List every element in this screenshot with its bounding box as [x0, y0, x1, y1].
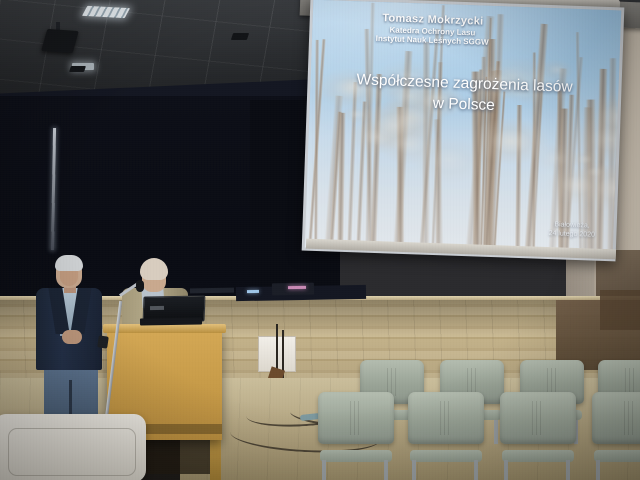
mixer-led-indicator	[247, 290, 259, 293]
presenter-left-hands	[62, 330, 82, 344]
tree-trunk	[336, 112, 345, 248]
audience-chair	[408, 392, 484, 480]
chair-backrest	[318, 392, 394, 444]
chair-seat	[410, 450, 482, 462]
chair-seat	[502, 450, 574, 462]
tree-trunk	[314, 40, 320, 248]
dark-wood-panel	[600, 290, 640, 330]
foreground-chair-inner-edge	[8, 428, 136, 476]
lectern-top-surface	[103, 324, 226, 333]
chair-seat	[320, 450, 392, 462]
equipment-shelf	[190, 288, 234, 294]
chair-leg	[412, 460, 416, 480]
ceiling-projector-icon	[41, 29, 79, 53]
chair-backrest	[408, 392, 484, 444]
chair-leg	[504, 460, 508, 480]
audience-chair	[500, 392, 576, 480]
presentation-slide: Tomasz Mokrzycki Katedra Ochrony Lasu In…	[305, 0, 621, 258]
presenter-right-hair	[140, 258, 168, 280]
chair-backrest	[500, 392, 576, 444]
presenter-laptop-base	[140, 317, 202, 325]
chair-leg	[322, 460, 326, 480]
chair-leg	[566, 460, 570, 480]
laptop-logo	[150, 306, 164, 310]
chair-backrest	[592, 392, 640, 444]
slide-author-block: Tomasz Mokrzycki Katedra Ochrony Lasu In…	[337, 10, 529, 48]
microphone-stand-clamp	[97, 335, 109, 348]
mixer-led-strip	[288, 286, 306, 289]
slide-footer: Białowieża, 24 lutego 2020	[548, 220, 595, 240]
chair-leg	[474, 460, 478, 480]
microphone-icon	[136, 280, 144, 292]
audience-chair	[318, 392, 394, 480]
ceiling-vent	[231, 33, 249, 40]
chair-leg	[384, 460, 388, 480]
ceiling-vent	[69, 66, 86, 72]
projection-screen: Tomasz Mokrzycki Katedra Ochrony Lasu In…	[302, 0, 625, 261]
lecture-hall-photo: Tomasz Mokrzycki Katedra Ochrony Lasu In…	[0, 0, 640, 480]
audience-chair	[592, 392, 640, 480]
presenter-left-hair	[55, 255, 83, 271]
chair-leg	[494, 420, 498, 444]
chair-seat	[594, 450, 640, 462]
slide-footer-date: 24 lutego 2020	[548, 229, 595, 240]
chair-leg	[596, 460, 600, 480]
